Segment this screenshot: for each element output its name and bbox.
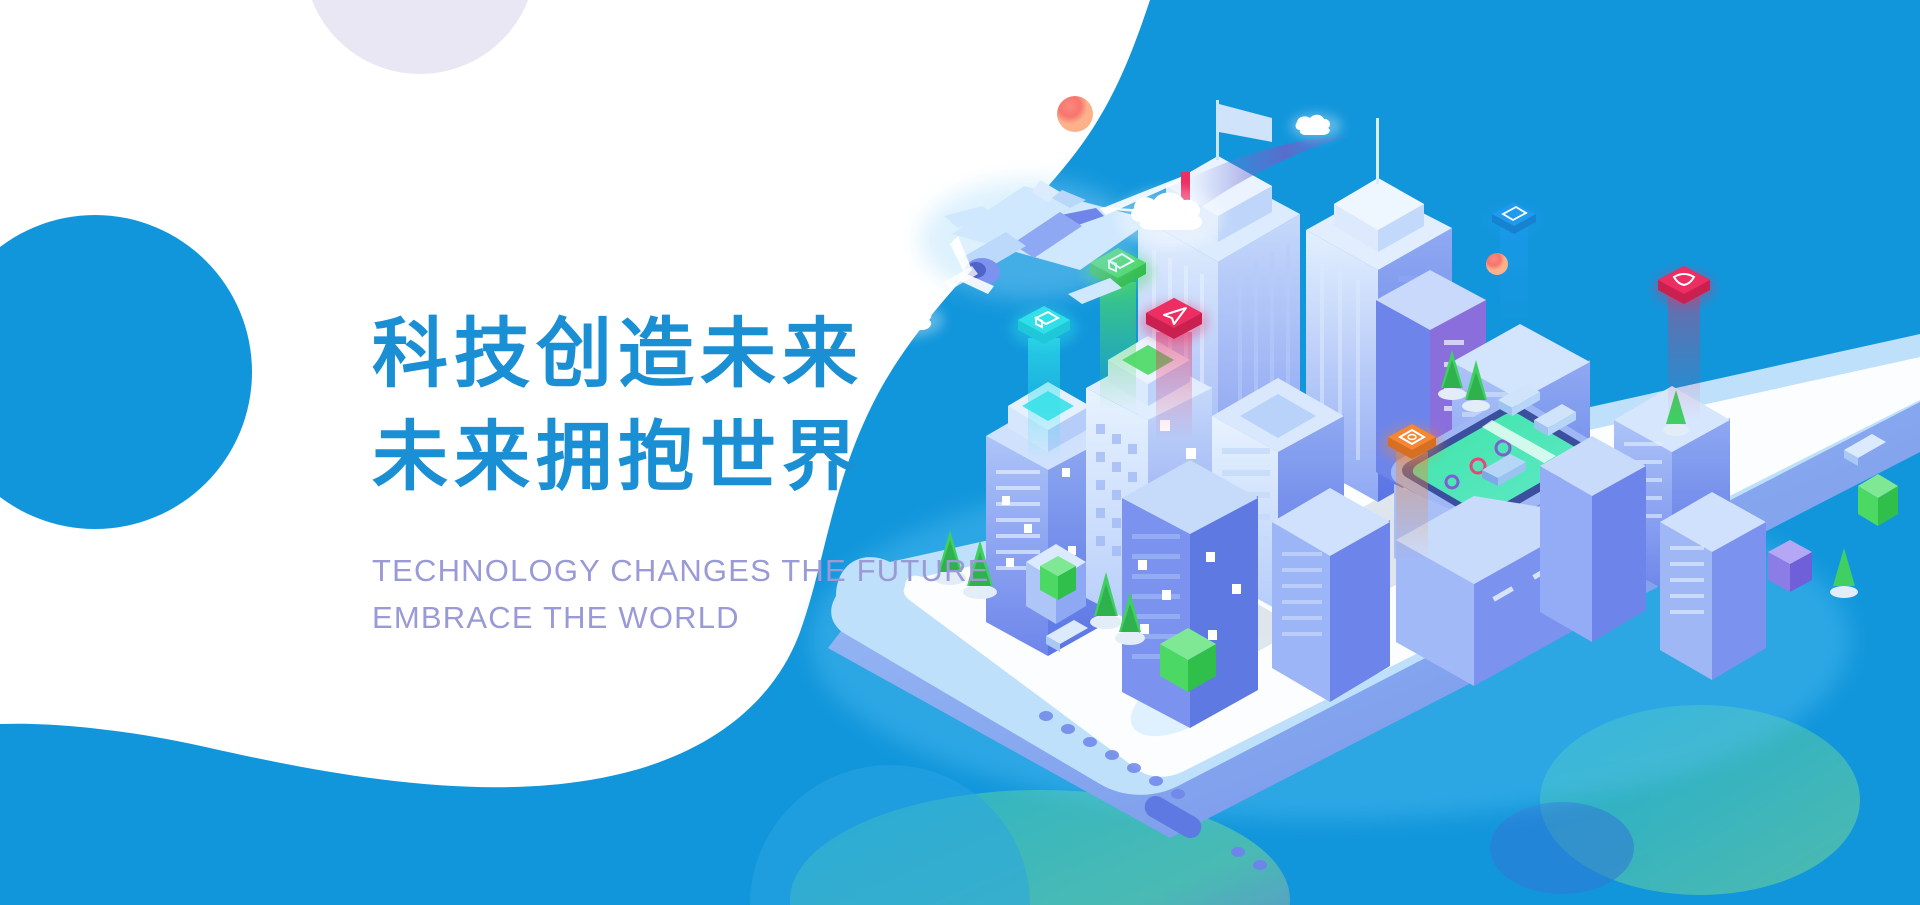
building-front-dark [1122, 460, 1258, 728]
subtitle-block: TECHNOLOGY CHANGES THE FUTURE EMBRACE TH… [372, 547, 1072, 641]
cloud-icon-large [1116, 188, 1224, 248]
balloon-icon [1057, 96, 1093, 132]
subtitle-line-1: TECHNOLOGY CHANGES THE FUTURE [372, 547, 1072, 594]
rooftop-flag [1219, 104, 1272, 142]
tree [1830, 548, 1858, 598]
port-dots [1231, 847, 1267, 870]
subtitle-line-2: EMBRACE THE WORLD [372, 594, 1072, 641]
hero-banner: 科技创造未来 未来拥抱世界 TECHNOLOGY CHANGES THE FUT… [0, 0, 1920, 905]
headline-line-1: 科技创造未来 [372, 302, 1072, 405]
airplane-icon [920, 180, 1152, 304]
antenna-icon [1376, 118, 1379, 184]
building-front-striped [1272, 488, 1390, 702]
hero-text-block: 科技创造未来 未来拥抱世界 TECHNOLOGY CHANGES THE FUT… [372, 302, 1072, 641]
headline-line-2: 未来拥抱世界 [372, 405, 1072, 508]
small-balloon-icon [1486, 253, 1508, 275]
flag-pole [1216, 100, 1219, 160]
green-cube-marker [1858, 474, 1898, 526]
cloud-icon-tiny [1290, 113, 1342, 139]
